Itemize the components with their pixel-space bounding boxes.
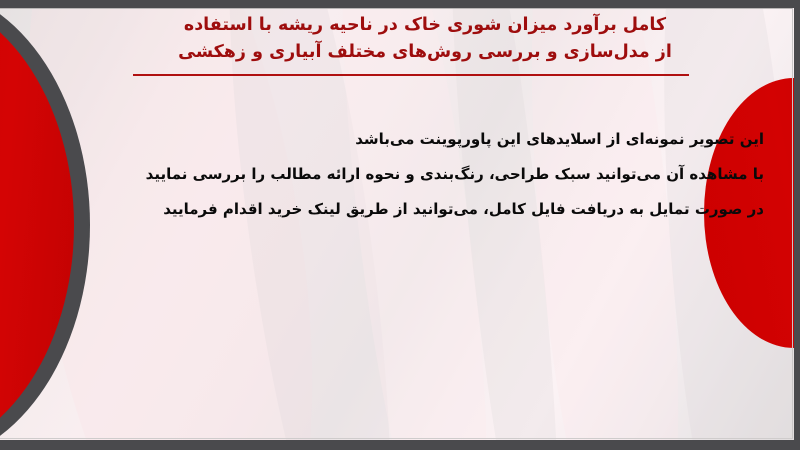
title-underline: [133, 74, 689, 76]
body-line-1: این تصویر نمونه‌ای از اسلایدهای این پاور…: [64, 122, 764, 157]
dark-frame-right: [794, 0, 800, 450]
body-line-2: با مشاهده آن می‌توانید سبک طراحی، رنگ‌بن…: [64, 157, 764, 192]
title-line-1: کامل برآورد میزان شوری خاک در ناحیه ریشه…: [80, 12, 770, 39]
slide-body: این تصویر نمونه‌ای از اسلایدهای این پاور…: [64, 122, 764, 227]
dark-frame-bottom: [0, 440, 800, 450]
body-line-3: در صورت تمایل به دریافت فایل کامل، می‌تو…: [64, 192, 764, 227]
title-line-2: از مدل‌سازی و بررسی روش‌های مختلف آبیاری…: [80, 39, 770, 66]
dark-frame-top: [0, 0, 800, 8]
presentation-slide: کامل برآورد میزان شوری خاک در ناحیه ریشه…: [0, 0, 800, 450]
slide-content: کامل برآورد میزان شوری خاک در ناحیه ریشه…: [0, 0, 800, 450]
slide-title: کامل برآورد میزان شوری خاک در ناحیه ریشه…: [80, 12, 770, 66]
